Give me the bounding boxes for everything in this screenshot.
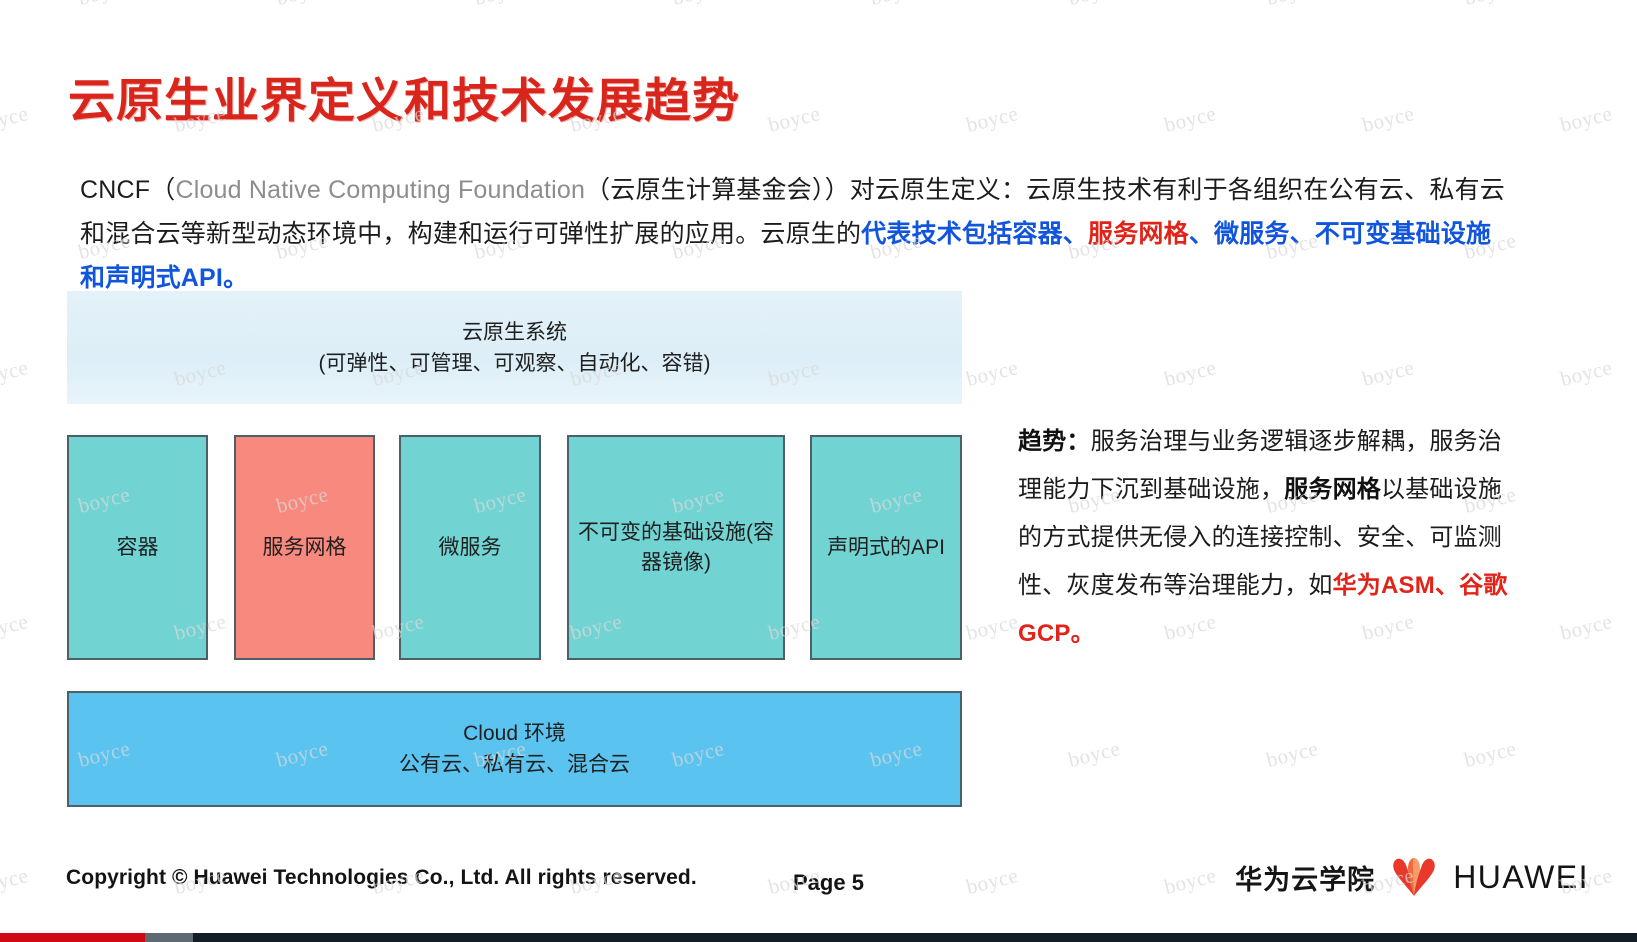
watermark-text: boyce	[1360, 355, 1417, 392]
watermark-text: boyce	[964, 863, 1021, 900]
watermark-text: boyce	[1162, 355, 1219, 392]
watermark-text: boyce	[472, 0, 529, 11]
tech-box-microservices[interactable]: 微服务	[399, 435, 541, 660]
watermark-text: boyce	[0, 355, 31, 392]
progress-bar-track-segment	[145, 933, 193, 942]
huawei-branding: 华为云学院 HUAWEI	[1235, 857, 1589, 897]
intro-cncf-label: CNCF（	[80, 176, 175, 204]
watermark-text: boyce	[868, 0, 925, 11]
footer-page-number: Page 5	[793, 870, 864, 896]
progress-bar-fill	[0, 933, 145, 942]
watermark-text: boyce	[1558, 101, 1615, 138]
tech-box-immutable-infrastructure[interactable]: 不可变的基础设施(容器镜像)	[567, 435, 785, 660]
cloud-environment-title: Cloud 环境	[463, 718, 566, 749]
watermark-text: boyce	[1558, 355, 1615, 392]
watermark-text: boyce	[1066, 736, 1123, 773]
watermark-text: boyce	[1462, 736, 1519, 773]
cloud-environment-types: 公有云、私有云、混合云	[399, 749, 630, 780]
cloud-native-system-band: 云原生系统 (可弹性、可管理、可观察、自动化、容错)	[67, 291, 962, 404]
footer-copyright: Copyright © Huawei Technologies Co., Ltd…	[66, 866, 697, 890]
watermark-text: boyce	[964, 101, 1021, 138]
trend-label: 趋势：	[1018, 428, 1091, 455]
intro-highlight-blue-first: 代表技术包括容器、	[861, 220, 1088, 248]
watermark-text: boyce	[1162, 863, 1219, 900]
slide-canvas: 云原生业界定义和技术发展趋势 CNCF（Cloud Native Computi…	[0, 0, 1637, 942]
watermark-text: boyce	[0, 609, 31, 646]
watermark-text: boyce	[274, 0, 331, 11]
huawei-wordmark: HUAWEI	[1453, 859, 1589, 896]
watermark-text: boyce	[964, 355, 1021, 392]
intro-highlight-red-service-mesh: 服务网格	[1088, 220, 1189, 248]
tech-box-container[interactable]: 容器	[67, 435, 208, 660]
watermark-text: boyce	[1462, 0, 1519, 11]
trend-emphasis-service-mesh: 服务网格	[1284, 476, 1381, 503]
tech-box-service-mesh[interactable]: 服务网格	[234, 435, 375, 660]
intro-paragraph: CNCF（Cloud Native Computing Foundation（云…	[80, 168, 1510, 300]
technology-box-row: 容器 服务网格 微服务 不可变的基础设施(容器镜像) 声明式的API	[67, 435, 962, 660]
watermark-text: boyce	[0, 101, 31, 138]
watermark-text: boyce	[964, 609, 1021, 646]
trend-paragraph: 趋势：服务治理与业务逻辑逐步解耦，服务治理能力下沉到基础设施，服务网格以基础设施…	[1018, 418, 1518, 658]
watermark-text: boyce	[1066, 0, 1123, 11]
watermark-text: boyce	[76, 0, 133, 11]
cloud-environment-band: Cloud 环境 公有云、私有云、混合云	[67, 691, 962, 807]
slide-title: 云原生业界定义和技术发展趋势	[68, 62, 740, 131]
tech-box-declarative-api[interactable]: 声明式的API	[810, 435, 962, 660]
watermark-text: boyce	[670, 0, 727, 11]
watermark-text: boyce	[1162, 101, 1219, 138]
watermark-text: boyce	[1264, 0, 1321, 11]
watermark-text: boyce	[0, 863, 31, 900]
watermark-text: boyce	[1360, 101, 1417, 138]
intro-cncf-english: Cloud Native Computing Foundation	[175, 176, 585, 204]
watermark-text: boyce	[766, 101, 823, 138]
huawei-flower-logo-icon	[1388, 857, 1440, 897]
watermark-text: boyce	[1558, 609, 1615, 646]
cloud-native-system-attributes: (可弹性、可管理、可观察、自动化、容错)	[319, 348, 711, 379]
cloud-native-system-title: 云原生系统	[462, 317, 567, 348]
huawei-cloud-academy-label: 华为云学院	[1235, 858, 1375, 897]
watermark-text: boyce	[1264, 736, 1321, 773]
bottom-progress-strip[interactable]	[0, 933, 1637, 942]
